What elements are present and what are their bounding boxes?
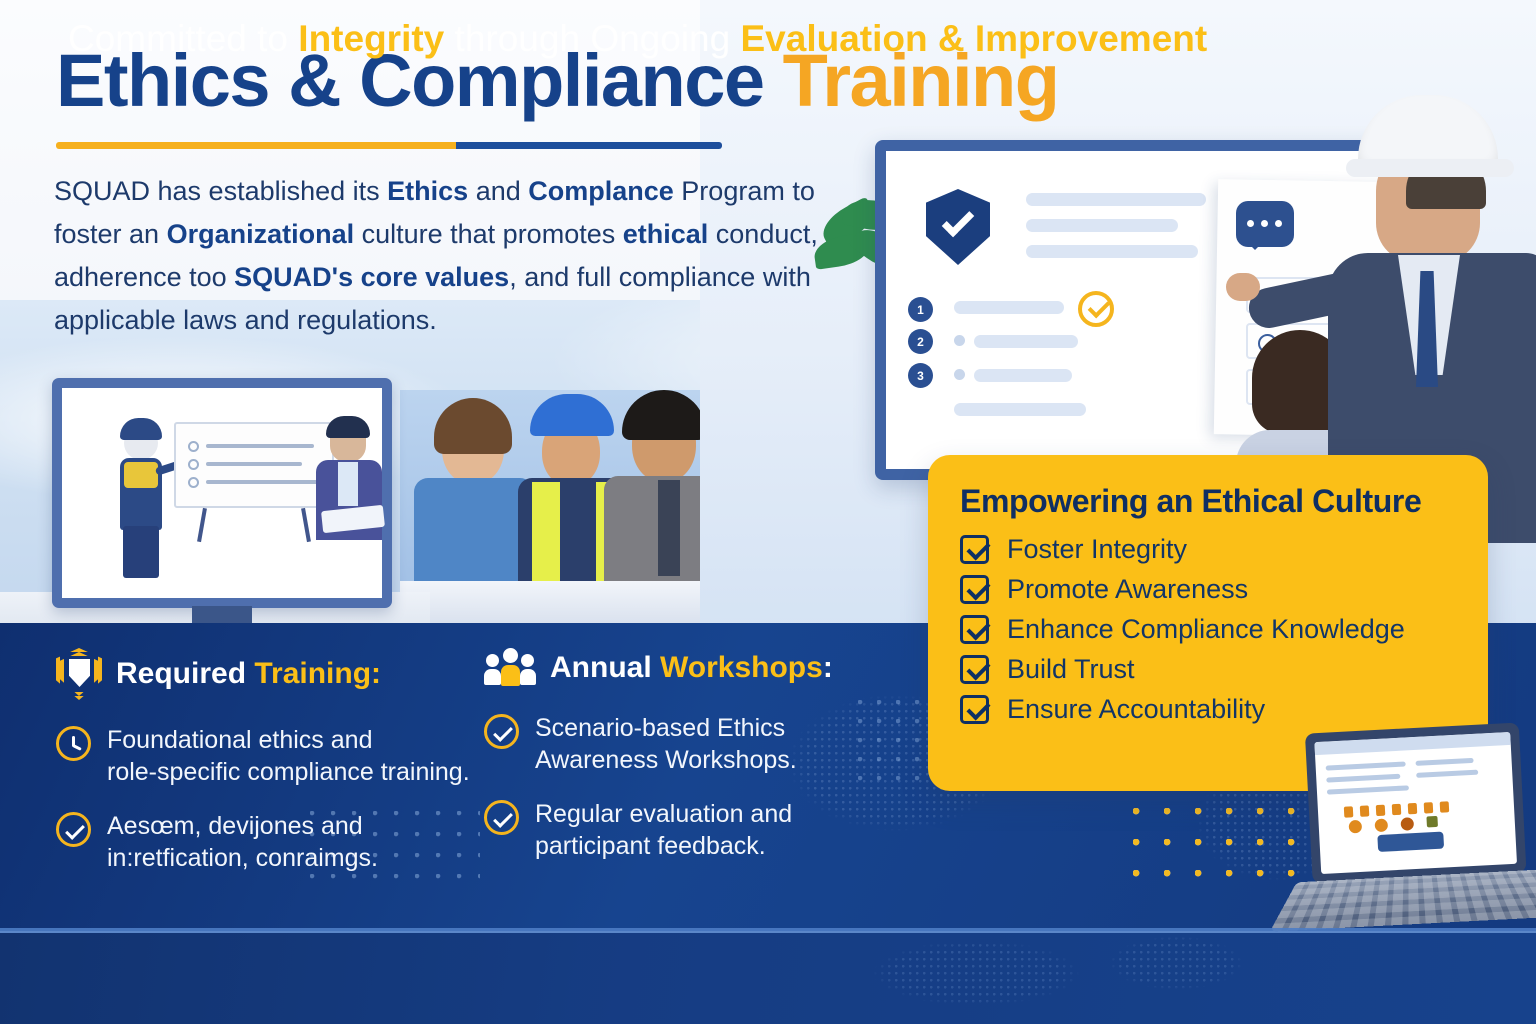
annual-workshops-title: Annual Workshops: <box>550 651 833 685</box>
annual-workshops-column: Annual Workshops: Scenario-based Ethics … <box>484 648 904 884</box>
board-text-line <box>206 462 302 466</box>
presenter-hair <box>326 416 370 438</box>
title-underline-blue <box>456 142 722 149</box>
browser-toolbar <box>1314 732 1510 755</box>
footer-world-map <box>776 933 1296 1024</box>
screen-bullet-dot <box>954 335 965 346</box>
checkbox-icon <box>960 535 989 564</box>
presenter-shirt <box>338 462 358 506</box>
intro-paragraph: SQUAD has established its Ethics and Com… <box>54 170 844 342</box>
screen-text-line <box>1026 219 1178 232</box>
board-text-line <box>206 444 314 448</box>
board-bullet-circle <box>188 459 199 470</box>
monitor-frame <box>52 378 392 608</box>
checkbox-icon <box>960 695 989 724</box>
illustration-presenter <box>312 416 392 546</box>
screen-text-line <box>1026 193 1206 206</box>
card-item-label: Promote Awareness <box>1007 574 1248 605</box>
bullet-text: Aesœm, devijones and in:retfication, con… <box>107 810 378 874</box>
board-bullet-circle <box>188 441 199 452</box>
screen-text-line <box>974 335 1078 348</box>
illustration-worker <box>116 418 166 578</box>
chat-bubble-icon <box>1236 201 1294 247</box>
illustration-whiteboard <box>174 422 334 508</box>
screen-step-badge: 2 <box>908 329 933 354</box>
list-item: Promote Awareness <box>960 574 1456 605</box>
required-training-title: Required Training: <box>116 657 381 691</box>
annual-workshops-heading: Annual Workshops: <box>484 648 904 688</box>
screen-text-line <box>974 369 1072 382</box>
conference-table <box>400 581 740 625</box>
laptop-screen <box>1314 732 1517 874</box>
card-item-label: Build Trust <box>1007 654 1135 685</box>
whiteboard-legs <box>184 508 324 542</box>
list-item: Aesœm, devijones and in:retfication, con… <box>56 810 476 874</box>
checkbox-icon <box>960 575 989 604</box>
laptop-page-button <box>1377 832 1444 852</box>
presenter-hand <box>1226 273 1260 301</box>
card-heading: Empowering an Ethical Culture <box>960 483 1456 520</box>
title-underline <box>56 142 722 149</box>
bullet-text: Regular evaluation and participant feedb… <box>535 798 792 862</box>
screen-step-badge: 3 <box>908 363 933 388</box>
photo-seated-attendees <box>400 390 740 625</box>
screen-text-line <box>954 403 1086 416</box>
list-item: Enhance Compliance Knowledge <box>960 614 1456 645</box>
hard-hat-brim <box>1346 159 1514 177</box>
shield-check-icon <box>926 189 990 265</box>
checkbox-icon <box>960 615 989 644</box>
card-item-label: Ensure Accountability <box>1007 694 1265 725</box>
screen-text-line <box>954 301 1064 314</box>
footer-tagline: Committed to Integrity through Ongoing E… <box>68 18 1207 60</box>
screen-bullet-dot <box>954 369 965 380</box>
list-item: Foster Integrity <box>960 534 1456 565</box>
list-item: Scenario-based Ethics Awareness Workshop… <box>484 712 904 776</box>
clock-icon <box>56 726 91 761</box>
card-item-label: Foster Integrity <box>1007 534 1187 565</box>
checkbox-icon <box>960 655 989 684</box>
list-item: Foundational ethics and role-specific co… <box>56 724 476 788</box>
required-training-heading: Required Training: <box>56 648 476 700</box>
laptop-keyboard <box>1270 869 1536 931</box>
photo-laptop <box>1291 722 1536 934</box>
bullet-text: Foundational ethics and role-specific co… <box>107 724 470 788</box>
worker-vest <box>124 462 158 488</box>
list-item: Build Trust <box>960 654 1456 685</box>
board-text-line <box>206 480 318 484</box>
shield-icon <box>56 648 102 700</box>
list-item: Regular evaluation and participant feedb… <box>484 798 904 862</box>
illustration-monitor <box>52 378 392 608</box>
screen-step-badge: 1 <box>908 297 933 322</box>
bullet-text: Scenario-based Ethics Awareness Workshop… <box>535 712 797 776</box>
list-item: Ensure Accountability <box>960 694 1456 725</box>
check-circle-icon <box>1078 291 1114 327</box>
check-circle-icon <box>484 800 519 835</box>
band-dot-pattern-gold <box>1133 808 1309 900</box>
infographic-poster: 1 2 3 <box>0 0 1536 1024</box>
laptop-lid <box>1305 722 1527 883</box>
people-group-icon <box>484 648 536 688</box>
card-item-label: Enhance Compliance Knowledge <box>1007 614 1405 645</box>
check-circle-icon <box>56 812 91 847</box>
board-bullet-circle <box>188 477 199 488</box>
attendee-3-tie <box>658 480 680 576</box>
worker-legs <box>123 526 159 578</box>
worker-cap <box>120 418 162 440</box>
required-training-column: Required Training: Foundational ethics a… <box>56 648 476 896</box>
footer-band <box>0 933 1536 1024</box>
screen-text-line <box>1026 245 1198 258</box>
title-underline-gold <box>56 142 456 149</box>
check-circle-icon <box>484 714 519 749</box>
